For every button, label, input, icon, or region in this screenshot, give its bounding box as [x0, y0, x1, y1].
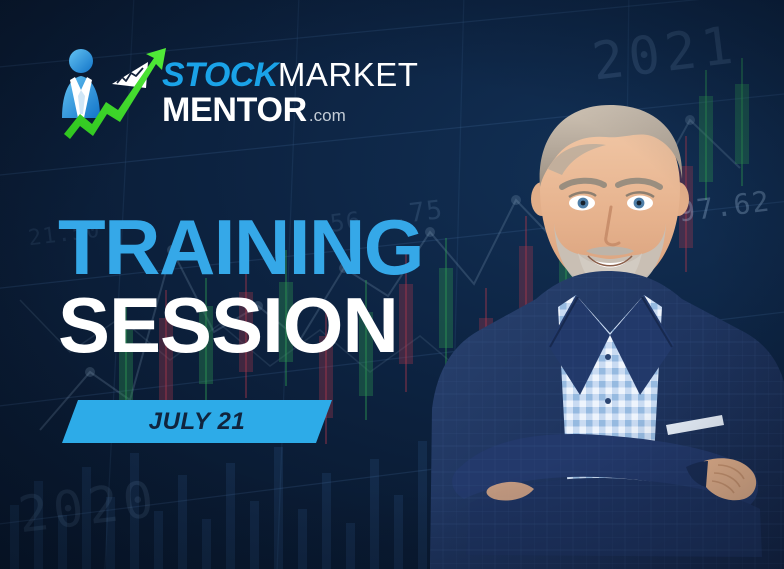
logo-word-mentor: MENTOR: [162, 93, 307, 127]
headline-line-training: TRAINING: [58, 212, 423, 284]
brand-wordmark: STOCK MARKET MENTOR .com: [162, 58, 418, 127]
headline-line-session: SESSION: [58, 290, 423, 362]
logo-word-market: MARKET: [278, 58, 419, 91]
headline: TRAINING SESSION: [58, 212, 423, 362]
businessman-chart-arrow-icon: [50, 40, 180, 140]
brand-logo[interactable]: STOCK MARKET MENTOR .com: [50, 40, 340, 140]
training-session-banner: 2021 2020 97.62 .75 56 21.50: [0, 0, 784, 569]
date-badge[interactable]: JULY 21: [62, 400, 332, 443]
logo-word-stock: STOCK: [162, 58, 278, 92]
logo-word-com: .com: [309, 107, 346, 124]
date-badge-label: JULY 21: [149, 408, 246, 436]
